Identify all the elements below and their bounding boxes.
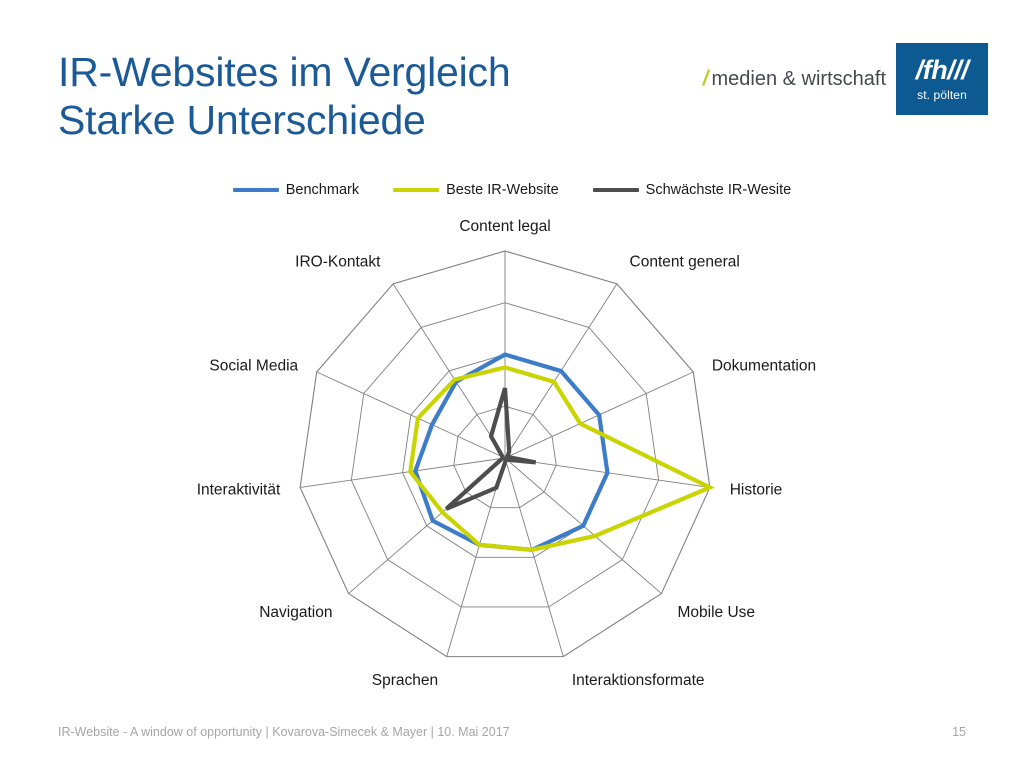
legend-item-0[interactable]: Benchmark [233,182,359,198]
logo-tagline-text: medien & wirtschaft [711,68,886,91]
footer-page-number: 15 [952,725,966,739]
radar-chart-svg: Content legalContent generalDokumentatio… [0,205,1024,695]
axis-label-content-legal: Content legal [459,218,550,235]
radar-grid [300,251,710,657]
logo-mark-sub: st. pölten [917,89,967,101]
legend-item-1[interactable]: Beste IR-Website [393,182,559,198]
axis-label-sprachen: Sprachen [372,672,438,689]
radar-chart: Content legalContent generalDokumentatio… [0,205,1024,695]
legend-label: Schwächste IR-Wesite [646,182,792,198]
axis-label-historie: Historie [730,482,783,499]
radar-series-group [410,355,710,550]
logo-tagline: / medien & wirtschaft [703,67,886,91]
page-title: IR-Websites im Vergleich Starke Untersch… [58,48,698,144]
axis-label-dokumentation: Dokumentation [712,357,816,374]
legend-swatch-icon [593,188,639,192]
logo-mark-main: /fh/// [916,57,969,84]
legend-swatch-icon [393,188,439,192]
logo-slash-icon: / [703,67,709,91]
axis-label-navigation: Navigation [259,604,332,621]
slide-footer: IR-Website - A window of opportunity | K… [0,725,1024,743]
axis-label-mobile-use: Mobile Use [678,604,756,621]
legend-label: Beste IR-Website [446,182,559,198]
footer-text: IR-Website - A window of opportunity | K… [58,725,510,739]
legend-label: Benchmark [286,182,359,198]
axis-label-social-media: Social Media [209,357,298,374]
axis-label-interaktionsformate: Interaktionsformate [572,672,705,689]
chart-legend: BenchmarkBeste IR-WebsiteSchwächste IR-W… [0,182,1024,198]
fh-stpoelten-logo-mark: /fh/// st. pölten [896,43,988,115]
radar-series-schw-chste-ir-wesite[interactable] [446,388,535,509]
slide-canvas: IR-Websites im Vergleich Starke Untersch… [0,0,1024,765]
axis-label-interaktivität: Interaktivität [197,482,281,499]
legend-item-2[interactable]: Schwächste IR-Wesite [593,182,792,198]
radar-series-benchmark[interactable] [415,355,607,550]
legend-swatch-icon [233,188,279,192]
institution-logo: / medien & wirtschaft /fh/// st. pölten [703,46,988,112]
axis-label-content-general: Content general [630,253,740,270]
axis-label-iro-kontakt: IRO-Kontakt [295,253,381,270]
